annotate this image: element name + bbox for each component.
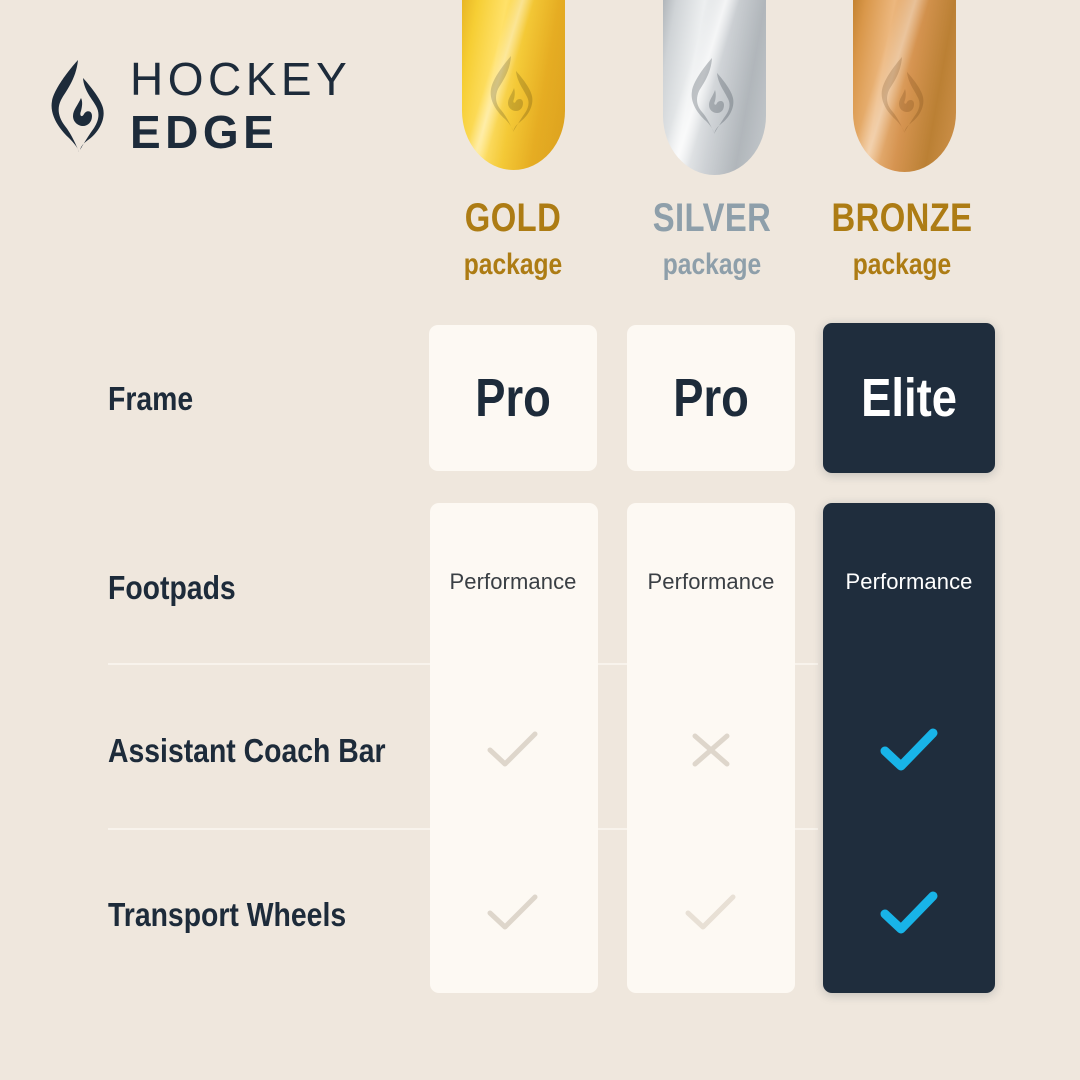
- check-icon: [484, 728, 542, 772]
- cell-transport-wheels-silver: [625, 878, 797, 948]
- comparison-table-page: HOCKEY EDGE: [0, 0, 1080, 1080]
- row-label-assistant-coach-bar: Assistant Coach Bar: [108, 732, 386, 770]
- bronze-medal-badge-icon: [853, 0, 956, 172]
- cell-value: Performance: [449, 569, 576, 595]
- package-subtitle: package: [804, 250, 1001, 280]
- cross-icon: [687, 728, 735, 772]
- silver-medal-badge-icon: [663, 0, 766, 175]
- cell-frame-silver: Pro: [625, 325, 797, 471]
- cell-footpads-bronze: Performance: [823, 552, 995, 612]
- brand-logo: HOCKEY EDGE: [48, 56, 351, 155]
- brand-line-1: HOCKEY: [130, 56, 351, 102]
- cell-footpads-silver: Performance: [625, 552, 797, 612]
- flame-logo-icon: [48, 58, 114, 154]
- package-subtitle: package: [415, 250, 612, 280]
- cell-frame-bronze: Elite: [823, 325, 995, 471]
- row-label-footpads: Footpads: [108, 569, 236, 607]
- brand-line-2: EDGE: [130, 109, 351, 155]
- package-subtitle: package: [614, 250, 811, 280]
- cell-value: Elite: [861, 371, 957, 425]
- row-label-frame: Frame: [108, 380, 193, 418]
- cell-value: Performance: [647, 569, 774, 595]
- package-name: SILVER: [614, 198, 811, 238]
- check-icon: [484, 891, 542, 935]
- cell-assistant-coach-bar-gold: [427, 715, 599, 785]
- package-name: GOLD: [415, 198, 612, 238]
- check-icon: [878, 889, 940, 937]
- cell-value: Performance: [845, 569, 972, 595]
- cell-assistant-coach-bar-bronze: [823, 715, 995, 785]
- cell-frame-gold: Pro: [427, 325, 599, 471]
- cell-footpads-gold: Performance: [427, 552, 599, 612]
- cell-transport-wheels-bronze: [823, 878, 995, 948]
- cell-value: Pro: [475, 371, 551, 425]
- cell-assistant-coach-bar-silver: [625, 715, 797, 785]
- row-label-transport-wheels: Transport Wheels: [108, 896, 346, 934]
- gold-medal-badge-icon: [462, 0, 565, 170]
- package-name: BRONZE: [804, 198, 1001, 238]
- badge-flame-emblem-icon: [483, 50, 545, 142]
- package-header-bronze: BRONZE package: [782, 198, 1022, 280]
- badge-flame-emblem-icon: [684, 52, 746, 144]
- check-icon: [682, 891, 740, 935]
- badge-flame-emblem-icon: [874, 51, 936, 143]
- check-icon: [878, 726, 940, 774]
- cell-transport-wheels-gold: [427, 878, 599, 948]
- cell-value: Pro: [673, 371, 749, 425]
- brand-wordmark: HOCKEY EDGE: [130, 56, 351, 155]
